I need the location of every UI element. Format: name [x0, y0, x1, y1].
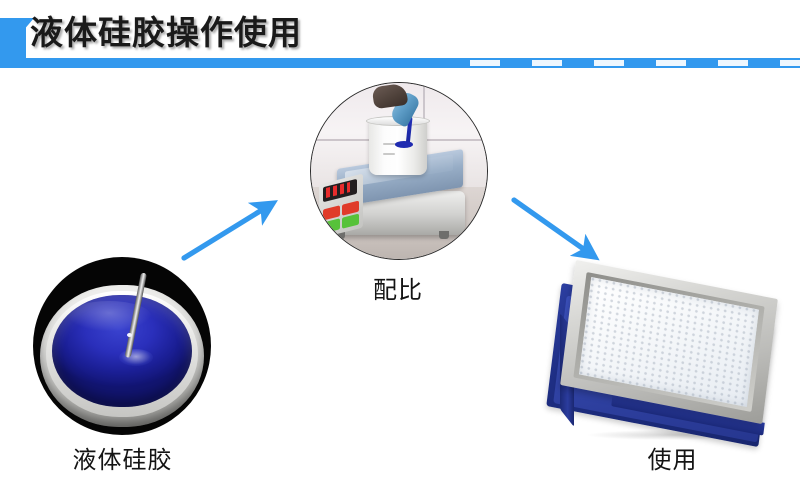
step-image-hepa-filter — [552, 262, 788, 450]
bucket-graduation-2 — [383, 153, 395, 155]
step-label-mixing-ratio: 配比 — [310, 270, 486, 305]
silicone-puddle-in-bucket — [395, 141, 413, 148]
step-image-liquid-silicone — [33, 257, 211, 435]
page-header: 液体硅胶操作使用 — [0, 0, 800, 70]
stir-splash — [119, 349, 153, 366]
header-rule-dash-pattern — [470, 60, 800, 66]
page-title: 液体硅胶操作使用 — [30, 6, 302, 54]
step-label-liquid-silicone: 液体硅胶 — [35, 440, 210, 475]
step-image-mixing-ratio — [310, 82, 488, 260]
arrow-ratio-to-use-icon — [506, 188, 616, 268]
scale-foot-right — [439, 231, 449, 239]
step-label-use: 使用 — [585, 440, 760, 475]
process-flow-diagram: 液体硅胶 — [0, 70, 800, 498]
arrow-silicone-to-ratio-icon — [176, 188, 286, 268]
stir-highlight-dot — [127, 333, 132, 337]
header-accent-wedge-icon — [0, 18, 34, 58]
